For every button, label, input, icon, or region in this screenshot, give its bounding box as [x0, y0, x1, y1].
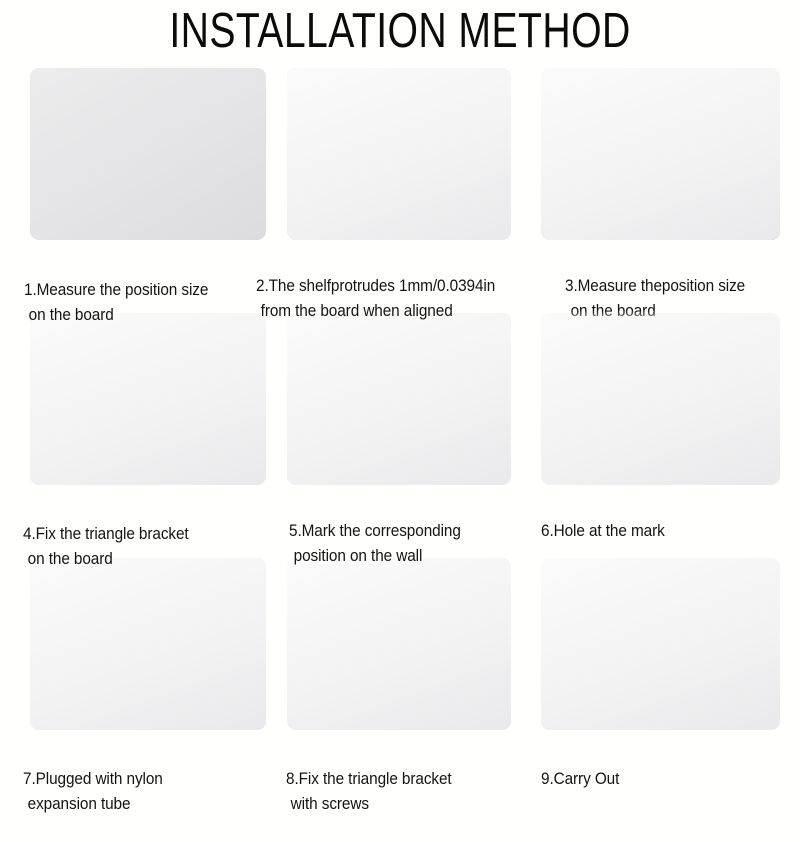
step-image-1	[30, 68, 266, 240]
step-caption-5-line2: position on the wall	[289, 544, 512, 569]
step-caption-2-line1: 2.The shelfprotrudes 1mm/0.0394in	[256, 277, 495, 295]
step-caption-5-line1: 5.Mark the corresponding	[289, 522, 461, 540]
step-caption-6: 6.Hole at the mark	[541, 494, 764, 569]
step-caption-7-line2: expansion tube	[23, 792, 246, 817]
step-caption-1: 1.Measure the position size on the board	[24, 253, 258, 353]
step-caption-2-line2: from the board when aligned	[256, 299, 535, 324]
infographic-page: INSTALLATION METHOD	[0, 0, 800, 800]
step-caption-6-line1: 6.Hole at the mark	[541, 522, 665, 540]
step-caption-8: 8.Fix the triangle bracket with screws	[286, 742, 519, 842]
step-caption-4-line2: on the board	[23, 547, 256, 572]
step-image-2	[287, 68, 511, 240]
step-caption-2: 2.The shelfprotrudes 1mm/0.0394in from t…	[256, 249, 535, 349]
step-image-9	[541, 558, 780, 730]
step-image-3	[541, 68, 780, 240]
step-caption-1-line1: 1.Measure the position size	[24, 281, 208, 299]
step-caption-9-line1: 9.Carry Out	[541, 770, 619, 788]
step-caption-3: 3.Measure theposition size on the board	[565, 249, 788, 349]
step-caption-7-line1: 7.Plugged with nylon	[23, 770, 163, 788]
page-title: INSTALLATION METHOD	[80, 4, 720, 58]
step-caption-4: 4.Fix the triangle bracket on the board	[23, 497, 256, 597]
step-caption-3-line2: on the board	[565, 299, 788, 324]
step-caption-8-line2: with screws	[286, 792, 519, 817]
step-caption-1-line2: on the board	[24, 303, 258, 328]
step-caption-4-line1: 4.Fix the triangle bracket	[23, 525, 189, 543]
step-caption-7: 7.Plugged with nylon expansion tube	[23, 742, 246, 842]
step-caption-5: 5.Mark the corresponding position on the…	[289, 494, 512, 594]
step-caption-3-line1: 3.Measure theposition size	[565, 277, 745, 295]
step-caption-8-line1: 8.Fix the triangle bracket	[286, 770, 452, 788]
step-caption-9: 9.Carry Out	[541, 742, 764, 817]
